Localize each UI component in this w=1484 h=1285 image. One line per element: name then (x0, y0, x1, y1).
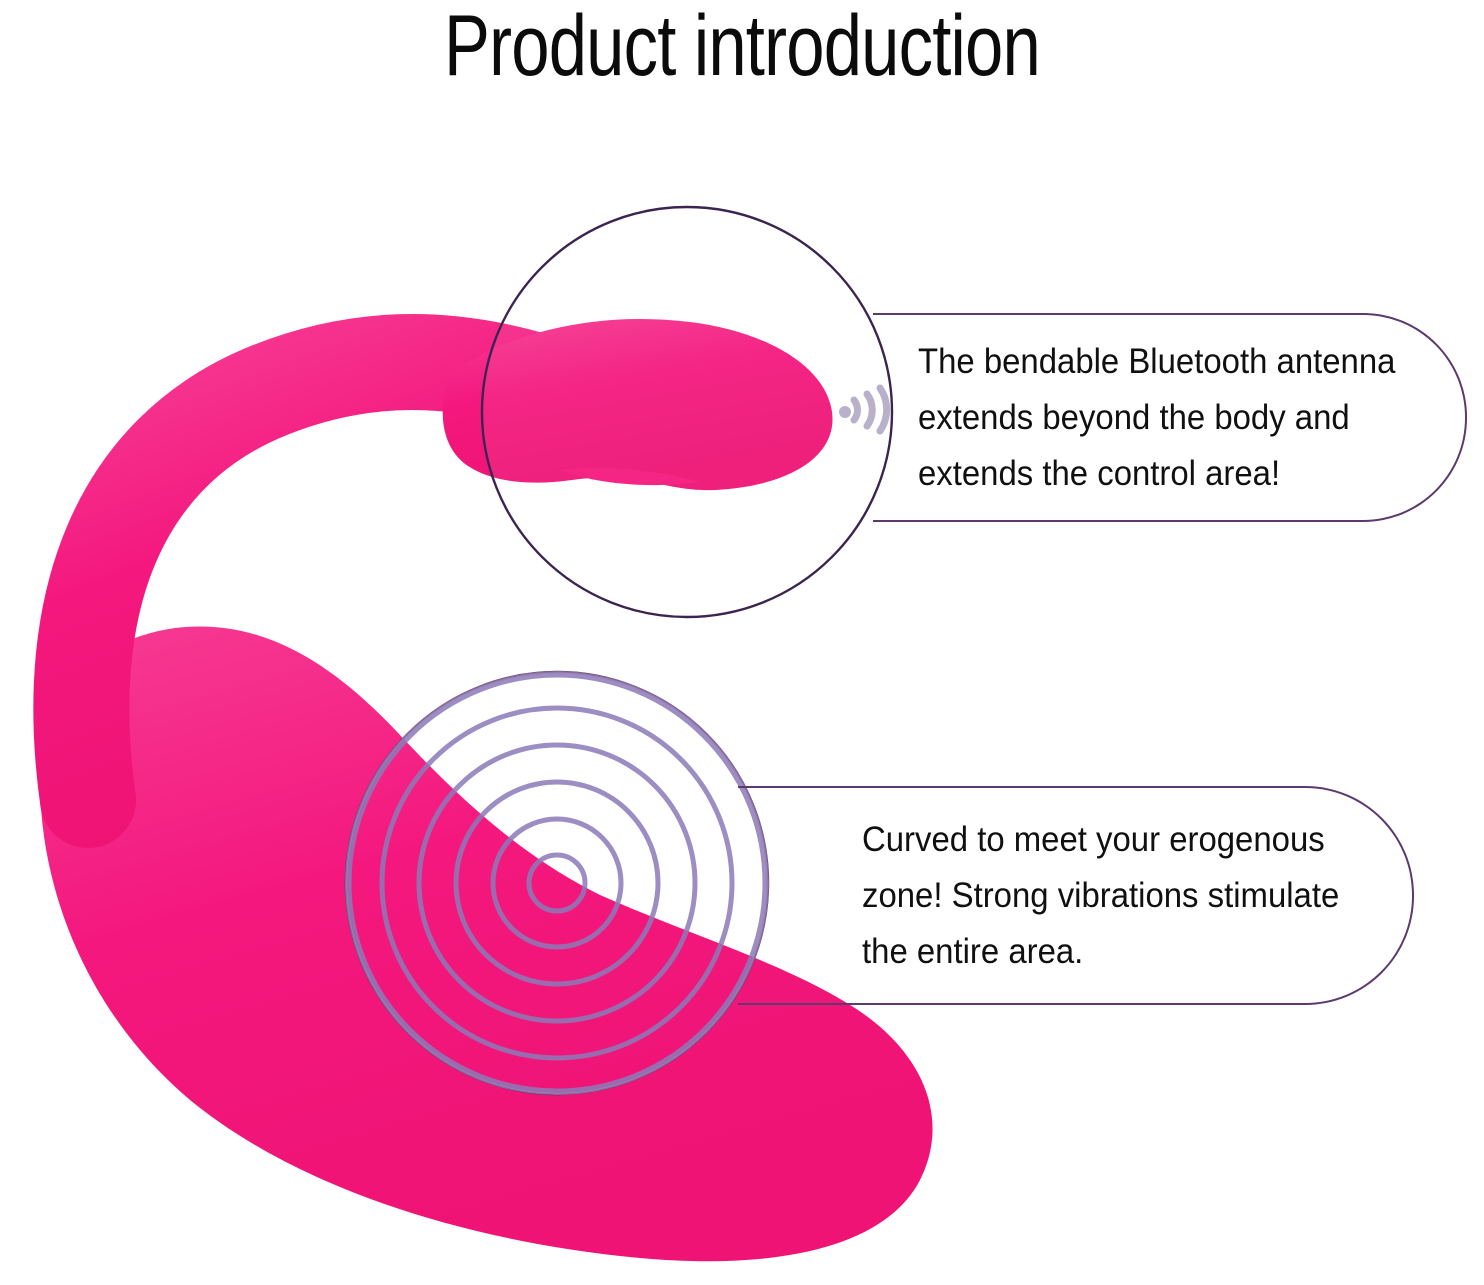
magnifier-outline-antenna (482, 207, 892, 617)
callout-antenna: The bendable Bluetooth antenna extends b… (873, 313, 1467, 522)
magnifier-circle-antenna (482, 207, 892, 617)
product-infographic: Product introduction (0, 0, 1484, 1285)
callout-curve: Curved to meet your erogenous zone! Stro… (738, 786, 1414, 1005)
product-illustration (0, 0, 1484, 1285)
callout-curve-text: Curved to meet your erogenous zone! Stro… (862, 812, 1379, 980)
callout-antenna-text: The bendable Bluetooth antenna extends b… (918, 334, 1430, 502)
